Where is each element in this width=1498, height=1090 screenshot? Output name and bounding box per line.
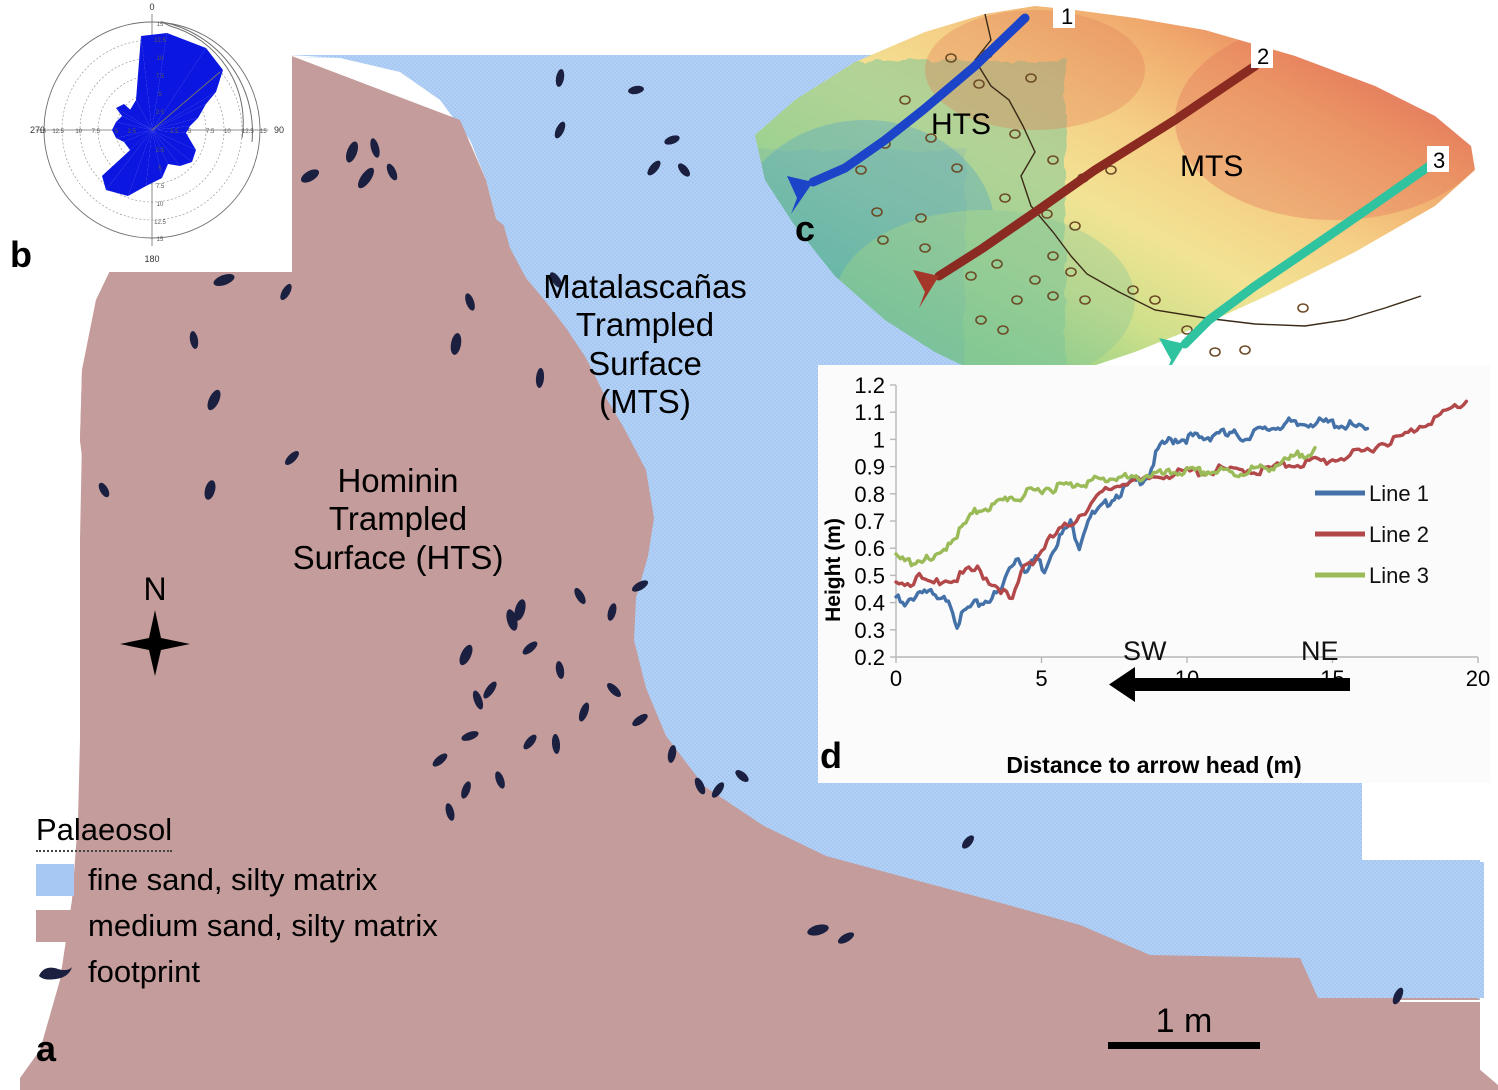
direction-arrow-icon (1109, 667, 1350, 702)
rose-tick-south-10: 10 (157, 202, 164, 208)
chart-y-tick-0.8: 0.8 (854, 482, 885, 507)
rose-tick-west-7.5: 7.5 (92, 129, 101, 135)
chart-legend: Line 1Line 2Line 3 (1315, 481, 1429, 588)
dem-line-marker-2: 2 (1257, 44, 1269, 69)
figure-root: Matalascañas Trampled Surface (MTS) Homi… (0, 0, 1498, 1090)
chart-y-tick-0.2: 0.2 (854, 645, 885, 670)
panel-letter-c: c (795, 208, 815, 250)
dem-svg: 1 2 3 HTS MTS (735, 0, 1498, 400)
chart-x-tick-0: 0 (890, 666, 902, 691)
north-label: N (110, 572, 200, 606)
legend-label-fine-sand: fine sand, silty matrix (88, 862, 377, 898)
legend-label-line-1: Line 1 (1369, 481, 1429, 506)
rose-tick-north-15: 15 (157, 22, 164, 28)
chart-y-tick-1: 1 (873, 427, 885, 452)
rose-azimuth-label-0: 0 (149, 2, 154, 12)
scale-bar: 1 m (1108, 1002, 1260, 1049)
scale-bar-line (1108, 1042, 1260, 1049)
chart-axes (896, 385, 1478, 657)
rose-tick-north-2.5: 2.5 (156, 110, 165, 116)
direction-label-ne: NE (1301, 636, 1339, 666)
rose-tick-south-7.5: 7.5 (156, 184, 165, 190)
rose-tick-west-10: 10 (75, 129, 82, 135)
chart-y-tick-0.6: 0.6 (854, 536, 885, 561)
rose-diagram-svg: 0 90 180 270 2.5 5 7.5 10 12.5 15 2.5 5 … (20, 0, 292, 272)
chart-y-tick-labels: 0.20.30.40.50.60.70.80.911.11.2 (854, 373, 896, 670)
medium-sand-swatch-icon (36, 910, 74, 942)
north-arrow: N (110, 572, 200, 682)
chart-y-axis-title: Height (m) (822, 518, 845, 622)
panel-letter-a: a (36, 1028, 56, 1070)
rose-tick-south-2.5: 2.5 (156, 148, 165, 154)
chart-x-tick-5: 5 (1035, 666, 1047, 691)
rose-azimuth-label-90: 90 (274, 125, 284, 135)
rose-tick-east-10: 10 (224, 129, 231, 135)
legend-item-medium-sand: medium sand, silty matrix (36, 908, 476, 944)
chart-y-tick-0.9: 0.9 (854, 455, 885, 480)
chart-series-lines (896, 401, 1466, 628)
chart-y-tick-1.2: 1.2 (854, 373, 885, 398)
legend-item-footprint: footprint (36, 954, 476, 990)
profile-chart-svg: 0.20.30.40.50.60.70.80.911.11.2 05101520… (818, 365, 1490, 783)
rose-tick-west-15: 15 (39, 129, 46, 135)
panel-d-height-profile-chart: 0.20.30.40.50.60.70.80.911.11.2 05101520… (818, 365, 1490, 783)
chart-x-axis-title: Distance to arrow head (m) (1006, 752, 1301, 778)
panel-letter-d: d (820, 735, 842, 777)
legend-label-medium-sand: medium sand, silty matrix (88, 908, 438, 944)
direction-label-sw: SW (1123, 636, 1167, 666)
map-legend: Palaeosol fine sand, silty matrix medium… (36, 812, 476, 990)
legend-label-footprint: footprint (88, 954, 200, 990)
rose-tick-east-2.5: 2.5 (170, 129, 179, 135)
rose-azimuth-label-180: 180 (144, 254, 159, 264)
rose-tick-east-12.5: 12.5 (242, 129, 254, 135)
compass-star-icon (110, 606, 200, 678)
rose-tick-north-12.5: 12.5 (154, 38, 166, 44)
rose-tick-west-12.5: 12.5 (52, 129, 64, 135)
rose-tick-east-15: 15 (260, 129, 267, 135)
footprint-symbol-icon (36, 956, 74, 988)
panel-b-rose-diagram: 0 90 180 270 2.5 5 7.5 10 12.5 15 2.5 5 … (20, 0, 292, 272)
fine-sand-swatch-icon (36, 864, 74, 896)
dem-line-marker-3: 3 (1433, 148, 1445, 173)
rose-tick-south-12.5: 12.5 (154, 220, 166, 226)
chart-y-tick-0.7: 0.7 (854, 509, 885, 534)
dem-line-marker-1: 1 (1061, 4, 1073, 29)
panel-letter-b: b (10, 234, 32, 276)
rose-tick-east-7.5: 7.5 (206, 129, 215, 135)
legend-label-line-3: Line 3 (1369, 563, 1429, 588)
map-label-hts: Hominin Trampled Surface (HTS) (248, 462, 548, 577)
direction-arrow-group: SW NE (1109, 636, 1350, 702)
legend-item-fine-sand: fine sand, silty matrix (36, 862, 476, 898)
chart-y-tick-0.5: 0.5 (854, 563, 885, 588)
panel-c-dem-3d: 1 2 3 HTS MTS (735, 0, 1498, 400)
legend-label-line-2: Line 2 (1369, 522, 1429, 547)
rose-tick-north-7.5: 7.5 (156, 74, 165, 80)
chart-line-3 (896, 448, 1315, 566)
dem-label-mts: MTS (1180, 150, 1243, 183)
rose-tick-north-10: 10 (157, 56, 164, 62)
rose-tick-south-15: 15 (157, 237, 164, 243)
chart-y-tick-0.3: 0.3 (854, 618, 885, 643)
legend-title: Palaeosol (36, 812, 172, 852)
rose-tick-west-2.5: 2.5 (128, 129, 137, 135)
chart-x-tick-20: 20 (1466, 666, 1490, 691)
dem-label-hts: HTS (931, 108, 991, 141)
chart-y-tick-1.1: 1.1 (854, 400, 885, 425)
chart-y-tick-0.4: 0.4 (854, 591, 885, 616)
scale-bar-label: 1 m (1108, 1002, 1260, 1040)
